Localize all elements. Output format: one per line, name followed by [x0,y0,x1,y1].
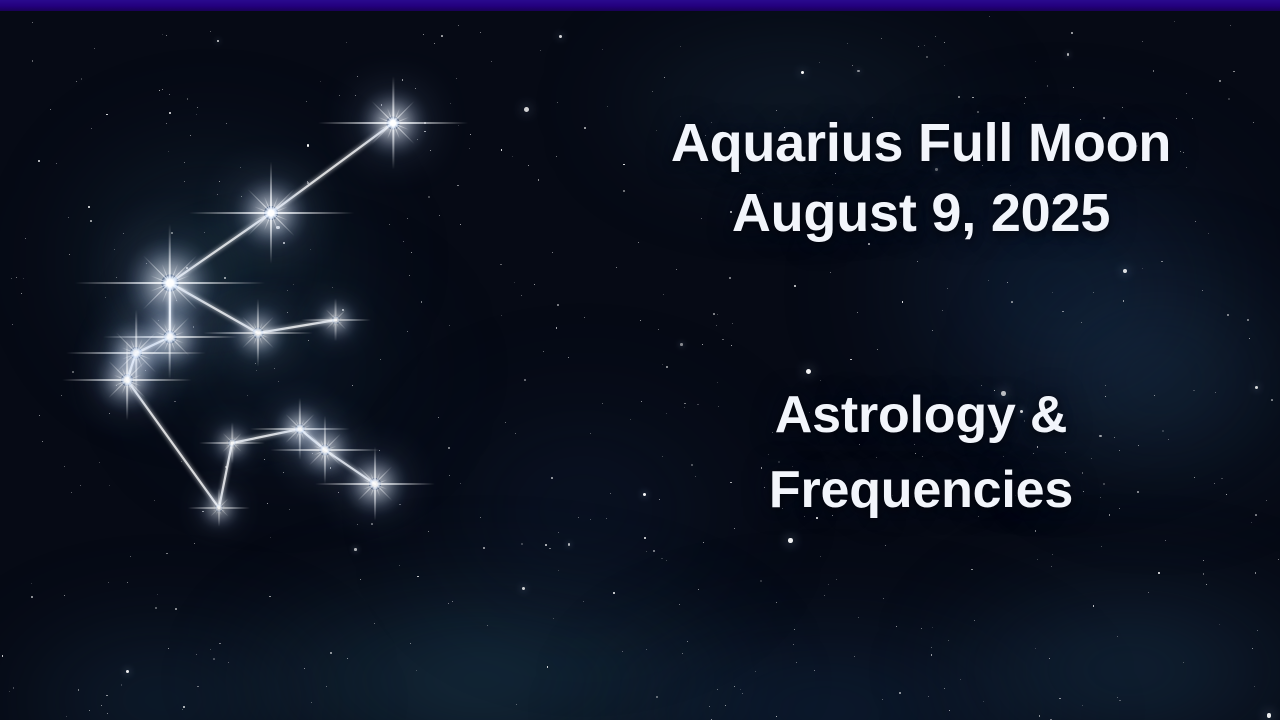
subtitle-block: Astrology & Frequencies [562,378,1280,528]
star-core [264,206,278,220]
star-core [215,504,223,512]
star-core [228,439,236,447]
title-block: Aquarius Full Moon August 9, 2025 [562,108,1280,248]
title-line-1: Aquarius Full Moon [562,108,1280,178]
title-line-2: August 9, 2025 [562,178,1280,248]
star-core [320,445,331,456]
star-core [387,117,400,130]
subtitle-line-2: Frequencies [562,453,1280,528]
star-core [332,316,340,324]
star-core [253,328,264,339]
slide-canvas: Aquarius Full Moon August 9, 2025 Astrol… [0,0,1280,720]
star-core [162,275,179,292]
star-core [369,478,381,490]
subtitle-line-1: Astrology & [562,378,1280,453]
top-accent-band [0,0,1280,11]
star-core [164,331,177,344]
star-core [121,374,133,386]
